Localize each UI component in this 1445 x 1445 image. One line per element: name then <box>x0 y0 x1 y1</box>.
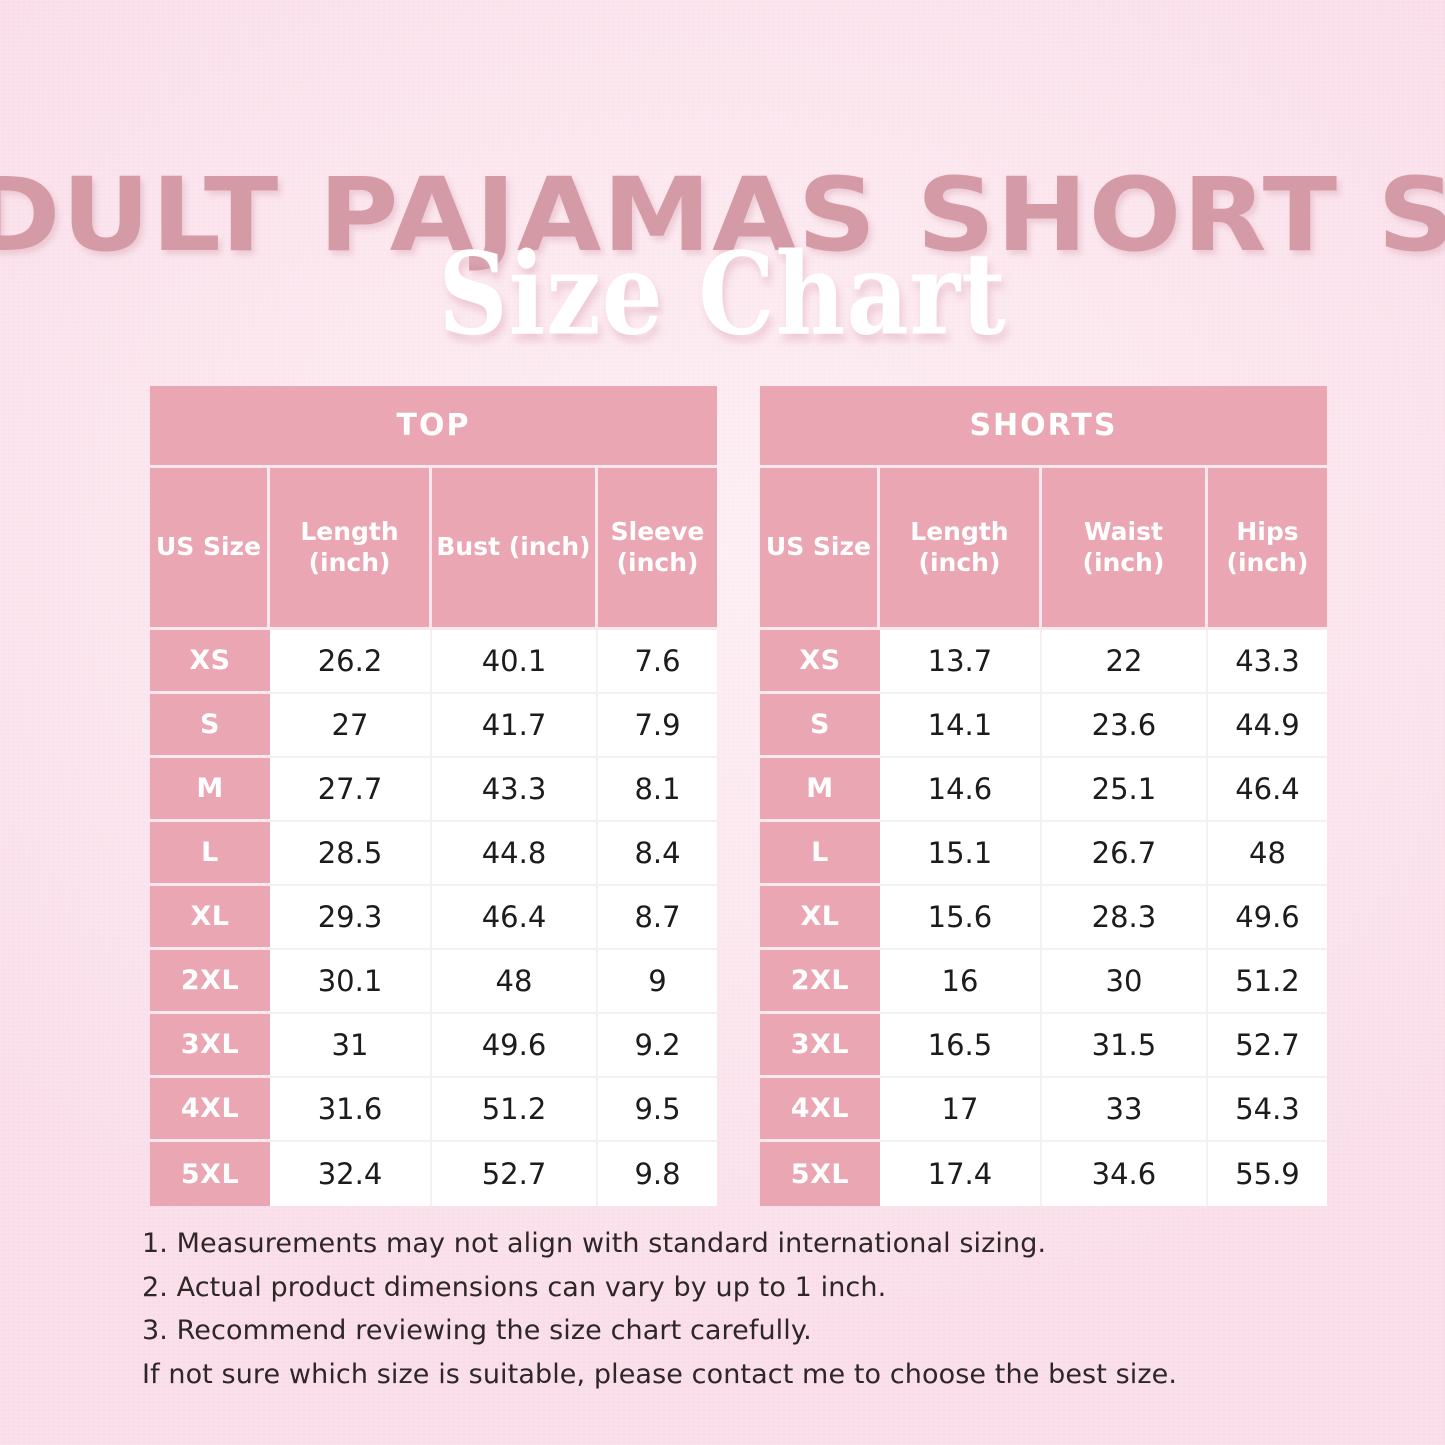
shorts-hips-cell: 44.9 <box>1208 694 1327 758</box>
top-bust-cell: 51.2 <box>432 1078 598 1142</box>
shorts-size-cell: 2XL <box>760 950 880 1014</box>
top-col-sleeve: Sleeve (inch) <box>598 468 717 630</box>
top-length-cell: 31.6 <box>270 1078 432 1142</box>
shorts-hips-cell: 55.9 <box>1208 1142 1327 1206</box>
top-sleeve-cell: 8.7 <box>598 886 717 950</box>
table-row: XS 26.2 40.1 7.6 <box>150 630 717 694</box>
shorts-size-cell: L <box>760 822 880 886</box>
note-line-4: If not sure which size is suitable, plea… <box>142 1353 1322 1397</box>
top-sleeve-cell: 9.5 <box>598 1078 717 1142</box>
table-row: L 28.5 44.8 8.4 <box>150 822 717 886</box>
top-group-label: TOP <box>150 386 717 468</box>
shorts-length-cell: 16 <box>880 950 1042 1014</box>
shorts-column-header-row: US Size Length (inch) Waist (inch) Hips … <box>760 468 1327 630</box>
shorts-hips-cell: 46.4 <box>1208 758 1327 822</box>
top-bust-cell: 43.3 <box>432 758 598 822</box>
top-col-sleeve-line2: (inch) <box>617 548 699 577</box>
shorts-col-us-size: US Size <box>760 468 880 630</box>
table-row: 2XL 16 30 51.2 <box>760 950 1327 1014</box>
top-length-cell: 26.2 <box>270 630 432 694</box>
top-size-cell: L <box>150 822 270 886</box>
table-row: M 27.7 43.3 8.1 <box>150 758 717 822</box>
shorts-col-waist-line1: Waist <box>1084 517 1163 546</box>
top-bust-cell: 49.6 <box>432 1014 598 1078</box>
shorts-hips-cell: 49.6 <box>1208 886 1327 950</box>
top-size-cell: 3XL <box>150 1014 270 1078</box>
shorts-waist-cell: 30 <box>1042 950 1208 1014</box>
shorts-length-cell: 14.1 <box>880 694 1042 758</box>
table-row: 2XL 30.1 48 9 <box>150 950 717 1014</box>
title-block: ADULT PAJAMAS SHORT SET Size Chart <box>0 0 1445 360</box>
shorts-col-hips-line1: Hips <box>1236 517 1298 546</box>
shorts-size-cell: XS <box>760 630 880 694</box>
table-row: S 14.1 23.6 44.9 <box>760 694 1327 758</box>
top-sleeve-cell: 9 <box>598 950 717 1014</box>
shorts-col-waist: Waist (inch) <box>1042 468 1208 630</box>
top-sleeve-cell: 9.2 <box>598 1014 717 1078</box>
shorts-col-length-line2: (inch) <box>919 548 1001 577</box>
shorts-waist-cell: 25.1 <box>1042 758 1208 822</box>
table-row: XS 13.7 22 43.3 <box>760 630 1327 694</box>
shorts-size-cell: XL <box>760 886 880 950</box>
shorts-group-header-row: SHORTS <box>760 386 1327 468</box>
table-row: 4XL 17 33 54.3 <box>760 1078 1327 1142</box>
shorts-length-cell: 17 <box>880 1078 1042 1142</box>
top-sleeve-cell: 7.6 <box>598 630 717 694</box>
shorts-length-cell: 14.6 <box>880 758 1042 822</box>
table-row: S 27 41.7 7.9 <box>150 694 717 758</box>
table-row: 5XL 32.4 52.7 9.8 <box>150 1142 717 1206</box>
top-col-length-line2: (inch) <box>309 548 391 577</box>
top-bust-cell: 46.4 <box>432 886 598 950</box>
top-col-length: Length (inch) <box>270 468 432 630</box>
top-sleeve-cell: 8.4 <box>598 822 717 886</box>
note-line-1: 1. Measurements may not align with stand… <box>142 1222 1322 1266</box>
shorts-waist-cell: 28.3 <box>1042 886 1208 950</box>
shorts-col-hips: Hips (inch) <box>1208 468 1327 630</box>
top-size-cell: M <box>150 758 270 822</box>
shorts-length-cell: 15.6 <box>880 886 1042 950</box>
shorts-hips-cell: 54.3 <box>1208 1078 1327 1142</box>
table-row: XL 15.6 28.3 49.6 <box>760 886 1327 950</box>
top-length-cell: 27.7 <box>270 758 432 822</box>
shorts-length-cell: 16.5 <box>880 1014 1042 1078</box>
top-length-cell: 28.5 <box>270 822 432 886</box>
shorts-size-cell: 4XL <box>760 1078 880 1142</box>
shorts-waist-cell: 23.6 <box>1042 694 1208 758</box>
top-sleeve-cell: 9.8 <box>598 1142 717 1206</box>
notes-block: 1. Measurements may not align with stand… <box>142 1222 1322 1397</box>
shorts-hips-cell: 52.7 <box>1208 1014 1327 1078</box>
top-bust-cell: 44.8 <box>432 822 598 886</box>
shorts-waist-cell: 31.5 <box>1042 1014 1208 1078</box>
top-size-table: TOP US Size Length (inch) Bust (inch) Sl… <box>150 386 717 1206</box>
shorts-size-cell: 3XL <box>760 1014 880 1078</box>
shorts-length-cell: 17.4 <box>880 1142 1042 1206</box>
top-length-cell: 31 <box>270 1014 432 1078</box>
top-size-cell: 5XL <box>150 1142 270 1206</box>
top-sleeve-cell: 7.9 <box>598 694 717 758</box>
shorts-col-length: Length (inch) <box>880 468 1042 630</box>
top-column-header-row: US Size Length (inch) Bust (inch) Sleeve… <box>150 468 717 630</box>
table-row: 4XL 31.6 51.2 9.5 <box>150 1078 717 1142</box>
table-row: 3XL 31 49.6 9.2 <box>150 1014 717 1078</box>
shorts-waist-cell: 26.7 <box>1042 822 1208 886</box>
shorts-waist-cell: 22 <box>1042 630 1208 694</box>
shorts-hips-cell: 43.3 <box>1208 630 1327 694</box>
top-length-cell: 29.3 <box>270 886 432 950</box>
top-col-bust: Bust (inch) <box>432 468 598 630</box>
shorts-hips-cell: 48 <box>1208 822 1327 886</box>
shorts-size-table: SHORTS US Size Length (inch) Waist (inch… <box>760 386 1327 1206</box>
shorts-col-waist-line2: (inch) <box>1083 548 1165 577</box>
top-size-cell: 2XL <box>150 950 270 1014</box>
top-bust-cell: 52.7 <box>432 1142 598 1206</box>
top-group-header-row: TOP <box>150 386 717 468</box>
shorts-waist-cell: 33 <box>1042 1078 1208 1142</box>
shorts-col-length-line1: Length <box>910 517 1008 546</box>
table-row: 3XL 16.5 31.5 52.7 <box>760 1014 1327 1078</box>
top-bust-cell: 40.1 <box>432 630 598 694</box>
top-size-cell: XS <box>150 630 270 694</box>
shorts-size-cell: 5XL <box>760 1142 880 1206</box>
top-sleeve-cell: 8.1 <box>598 758 717 822</box>
top-size-cell: 4XL <box>150 1078 270 1142</box>
table-row: M 14.6 25.1 46.4 <box>760 758 1327 822</box>
top-col-sleeve-line1: Sleeve <box>611 517 705 546</box>
size-tables-container: TOP US Size Length (inch) Bust (inch) Sl… <box>150 386 1327 1206</box>
shorts-hips-cell: 51.2 <box>1208 950 1327 1014</box>
shorts-waist-cell: 34.6 <box>1042 1142 1208 1206</box>
top-size-cell: XL <box>150 886 270 950</box>
shorts-length-cell: 15.1 <box>880 822 1042 886</box>
note-line-2: 2. Actual product dimensions can vary by… <box>142 1266 1322 1310</box>
page-subheadline: Size Chart <box>0 238 1445 351</box>
shorts-col-hips-line2: (inch) <box>1227 548 1309 577</box>
shorts-table-body: XS 13.7 22 43.3 S 14.1 23.6 44.9 M 14.6 … <box>760 630 1327 1206</box>
top-col-length-line1: Length <box>300 517 398 546</box>
shorts-size-cell: M <box>760 758 880 822</box>
top-bust-cell: 41.7 <box>432 694 598 758</box>
table-row: L 15.1 26.7 48 <box>760 822 1327 886</box>
table-row: 5XL 17.4 34.6 55.9 <box>760 1142 1327 1206</box>
note-line-3: 3. Recommend reviewing the size chart ca… <box>142 1309 1322 1353</box>
shorts-length-cell: 13.7 <box>880 630 1042 694</box>
table-row: XL 29.3 46.4 8.7 <box>150 886 717 950</box>
top-length-cell: 30.1 <box>270 950 432 1014</box>
top-bust-cell: 48 <box>432 950 598 1014</box>
shorts-size-cell: S <box>760 694 880 758</box>
shorts-group-label: SHORTS <box>760 386 1327 468</box>
top-col-us-size: US Size <box>150 468 270 630</box>
top-length-cell: 27 <box>270 694 432 758</box>
top-table-body: XS 26.2 40.1 7.6 S 27 41.7 7.9 M 27.7 43… <box>150 630 717 1206</box>
top-size-cell: S <box>150 694 270 758</box>
top-length-cell: 32.4 <box>270 1142 432 1206</box>
